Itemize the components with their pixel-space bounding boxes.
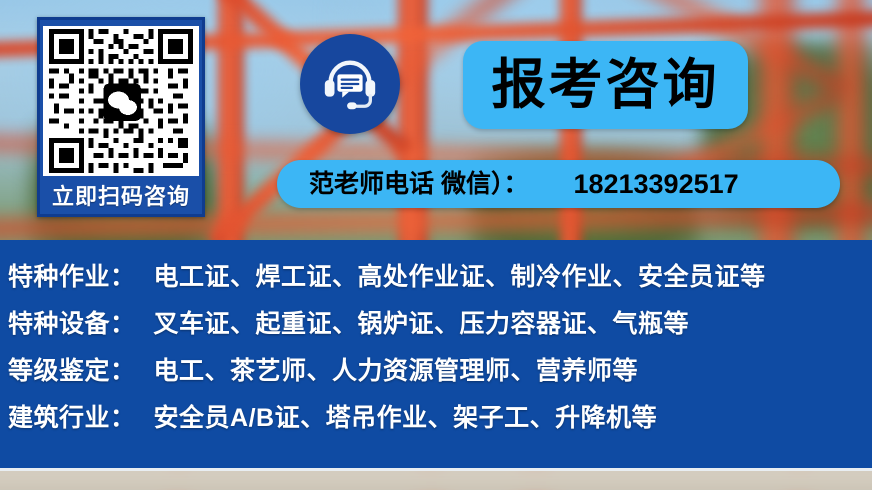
title-badge: 报考咨询 bbox=[463, 41, 748, 129]
contact-label: 范老师电话 微信）： bbox=[309, 172, 528, 197]
category-label: 建筑行业： bbox=[8, 398, 136, 434]
qr-code-icon bbox=[48, 29, 194, 173]
page-title: 报考咨询 bbox=[492, 58, 720, 112]
category-row: 特种作业： 电工证、焊工证、高处作业证、制冷作业、安全员证等 bbox=[0, 257, 872, 304]
category-label: 特种作业： bbox=[8, 257, 136, 293]
category-label: 等级鉴定： bbox=[8, 351, 136, 387]
course-categories-panel: 特种作业： 电工证、焊工证、高处作业证、制冷作业、安全员证等 特种设备： 叉车证… bbox=[0, 240, 872, 468]
category-items: 安全员A/B证、塔吊作业、架子工、升降机等 bbox=[154, 398, 658, 434]
category-row: 特种设备： 叉车证、起重证、锅炉证、压力容器证、气瓶等 bbox=[0, 304, 872, 351]
contact-badge[interactable]: 范老师电话 微信）： 18213392517 bbox=[277, 160, 840, 208]
qr-code-card[interactable]: 立即扫码咨询 bbox=[37, 17, 205, 217]
contact-phone-number[interactable]: 18213392517 bbox=[573, 171, 738, 198]
promo-poster: 立即扫码咨询 报考咨询 范老师电话 微信）： 18213392517 特 bbox=[0, 0, 872, 490]
crane-beam-vertical-5 bbox=[838, 0, 864, 270]
category-row: 等级鉴定： 电工、茶艺师、人力资源管理师、营养师等 bbox=[0, 351, 872, 398]
category-items: 叉车证、起重证、锅炉证、压力容器证、气瓶等 bbox=[154, 304, 690, 340]
qr-card-caption: 立即扫码咨询 bbox=[52, 176, 190, 214]
category-label: 特种设备： bbox=[8, 304, 136, 340]
support-badge[interactable] bbox=[300, 34, 400, 134]
category-items: 电工、茶艺师、人力资源管理师、营养师等 bbox=[154, 351, 639, 387]
panel-bottom-divider bbox=[0, 468, 872, 471]
qr-code-image[interactable] bbox=[43, 26, 199, 176]
category-row: 建筑行业： 安全员A/B证、塔吊作业、架子工、升降机等 bbox=[0, 398, 872, 445]
category-items: 电工证、焊工证、高处作业证、制冷作业、安全员证等 bbox=[154, 257, 766, 293]
headset-support-icon bbox=[319, 53, 381, 115]
